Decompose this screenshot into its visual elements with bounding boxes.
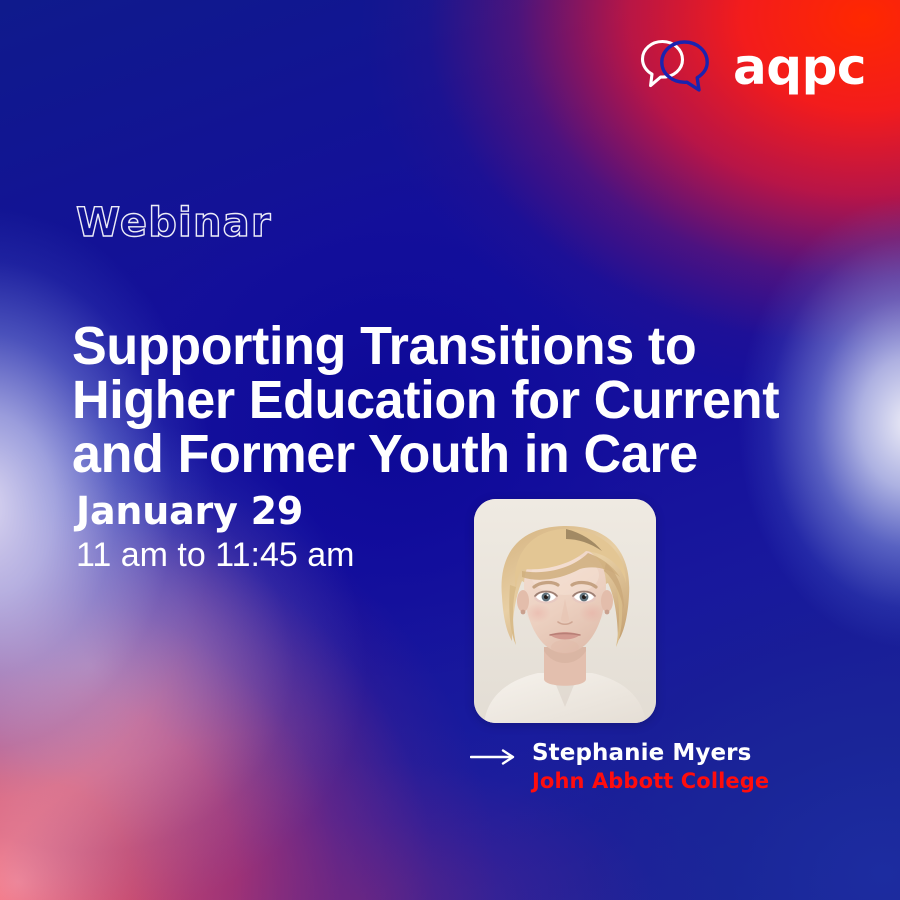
- eyebrow-label: Webinar: [76, 203, 272, 243]
- aqpc-logo[interactable]: aqpc: [637, 36, 866, 99]
- title-line-3: and Former Youth in Care: [72, 427, 805, 481]
- page-title: Supporting Transitions to Higher Educati…: [72, 319, 805, 481]
- speaker-text: Stephanie Myers John Abbott College: [532, 741, 769, 793]
- speaker-credit: Stephanie Myers John Abbott College: [470, 741, 769, 793]
- webinar-promo-poster: aqpc Webinar Supporting Transitions to H…: [0, 0, 900, 900]
- speaker-organization: John Abbott College: [532, 770, 769, 794]
- event-time: 11 am to 11:45 am: [76, 538, 354, 574]
- two-speech-bubbles-icon: [637, 36, 723, 99]
- speaker-name: Stephanie Myers: [532, 741, 769, 767]
- title-line-1: Supporting Transitions to: [72, 319, 805, 373]
- speaker-photo: [474, 499, 656, 723]
- aqpc-wordmark: aqpc: [733, 42, 866, 92]
- event-date: January 29: [76, 492, 354, 532]
- event-datetime: January 29 11 am to 11:45 am: [76, 492, 354, 574]
- title-line-2: Higher Education for Current: [72, 373, 805, 427]
- arrow-right-icon: [470, 749, 518, 770]
